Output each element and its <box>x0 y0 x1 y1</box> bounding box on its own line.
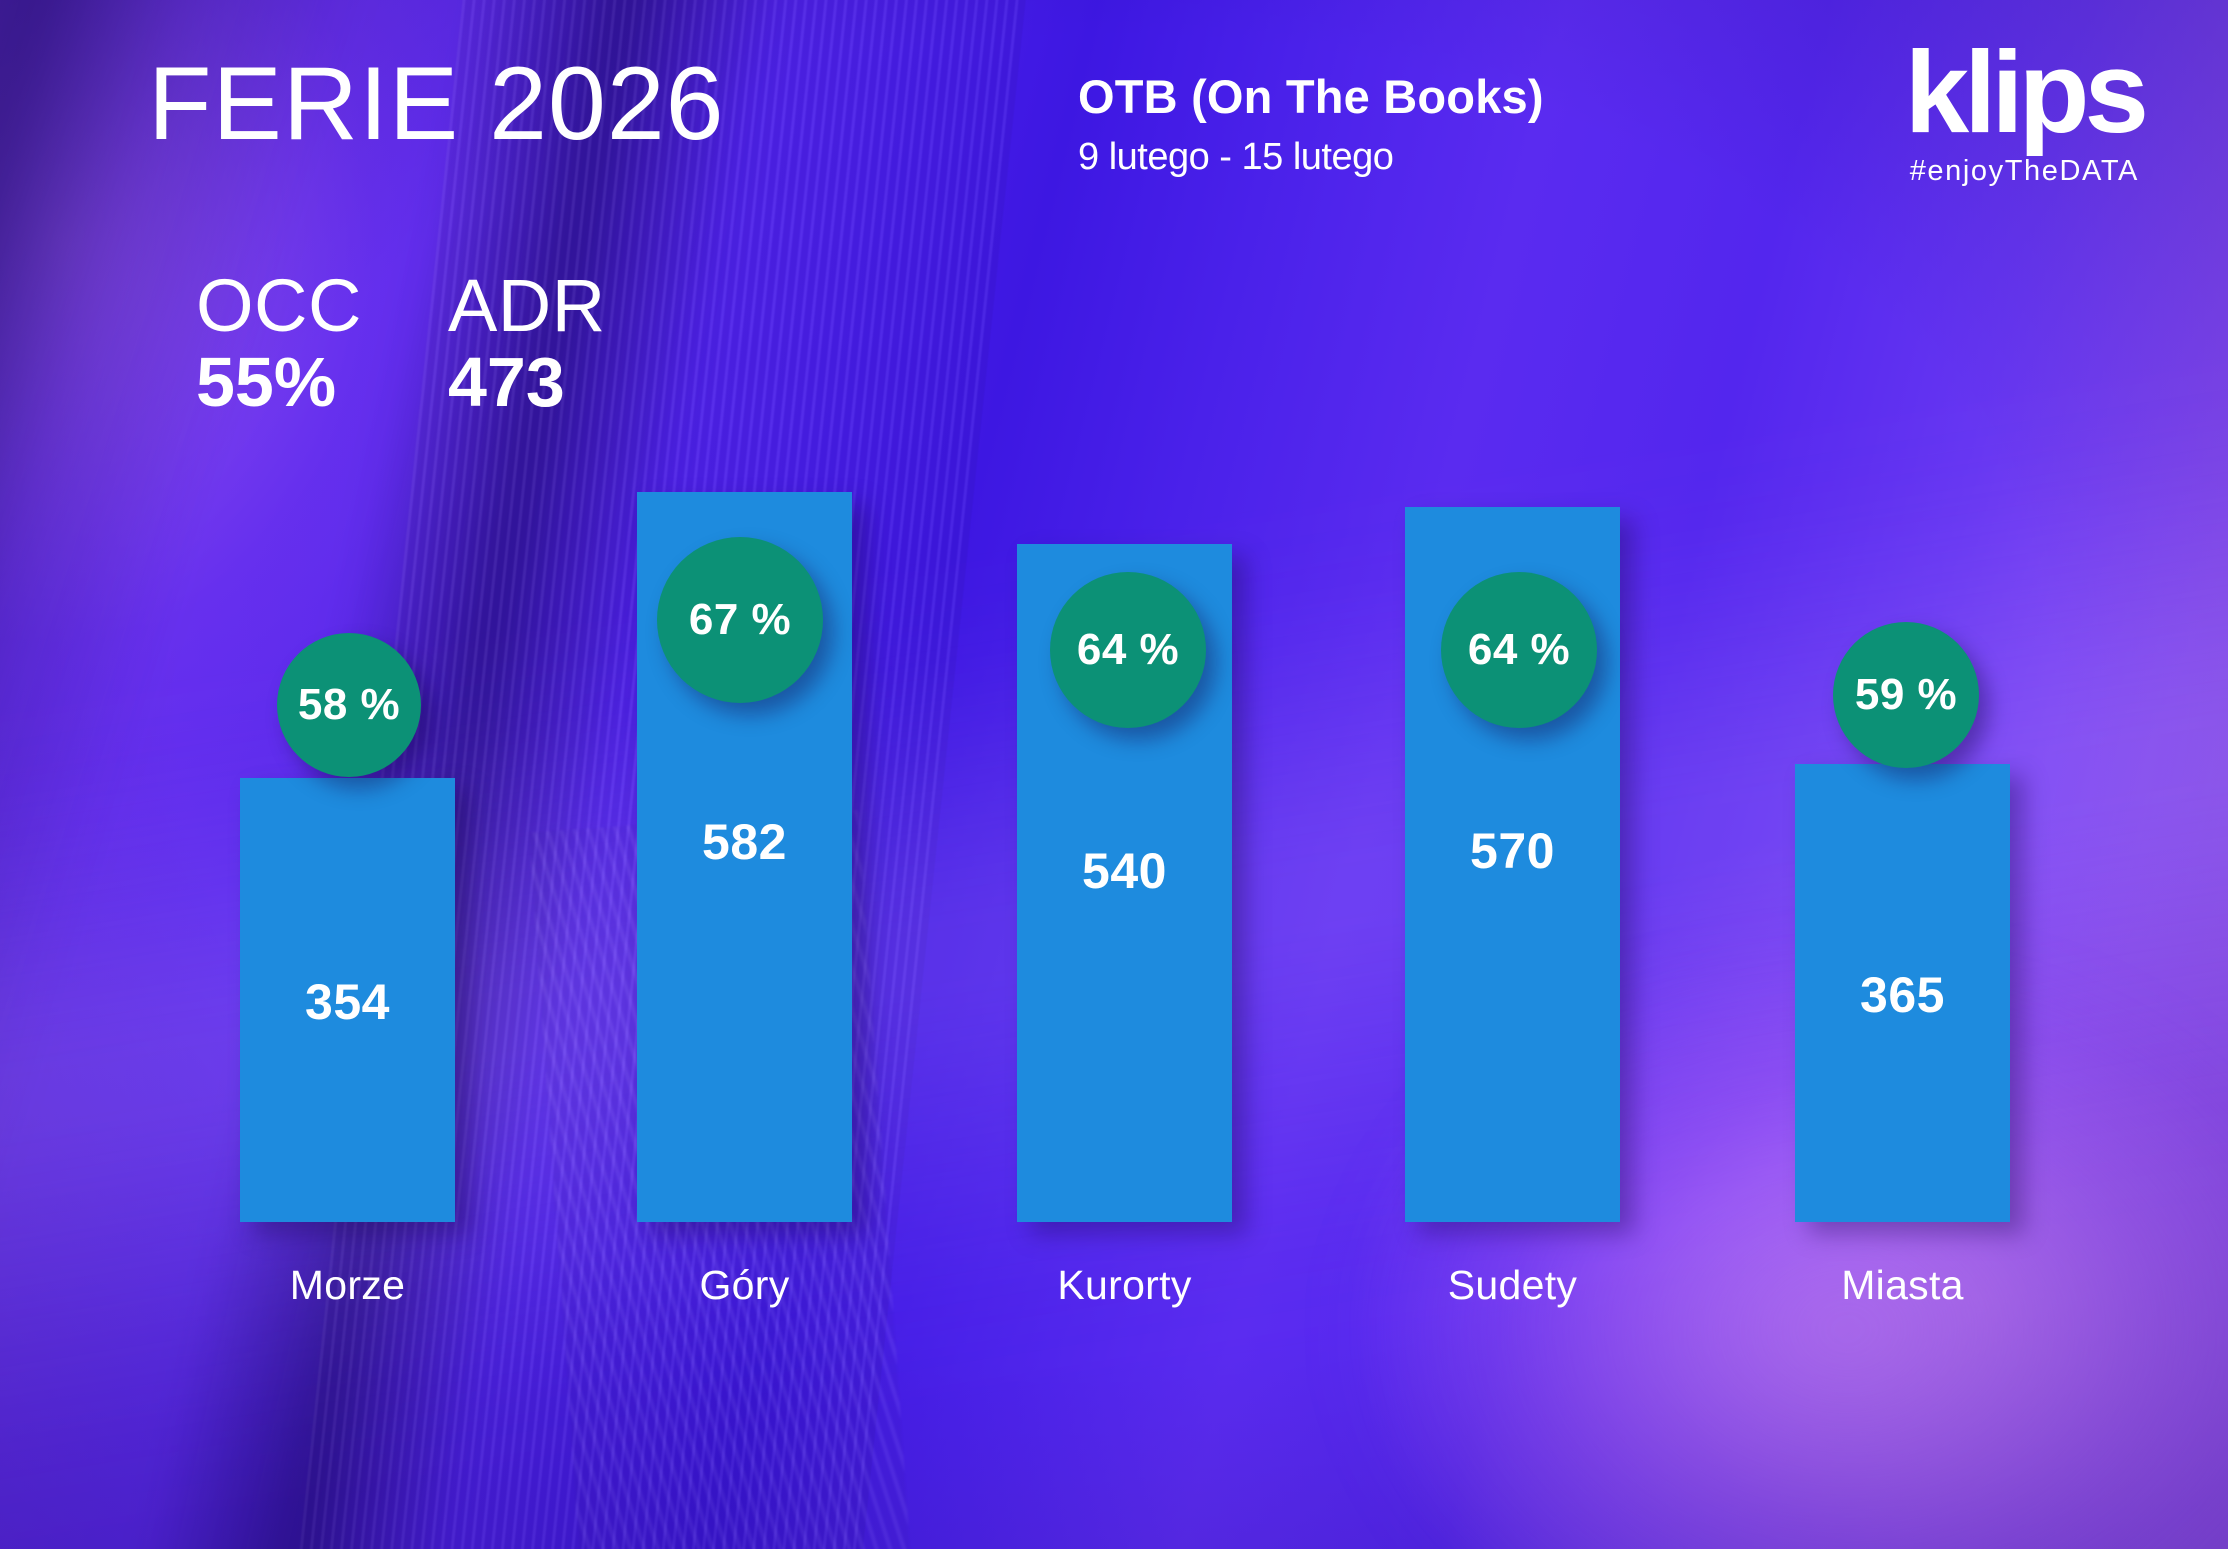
bar-value-miasta: 365 <box>1795 966 2010 1024</box>
occ-badge-label: 59 % <box>1855 670 1957 720</box>
bar-value-góry: 582 <box>637 813 852 871</box>
infographic-canvas: FERIE 2026 OCC 55% ADR 473 OTB (On The B… <box>0 0 2228 1549</box>
occ-badge-miasta[interactable]: 59 % <box>1833 622 1979 768</box>
bar-value-morze: 354 <box>240 973 455 1031</box>
occ-badge-kurorty[interactable]: 64 % <box>1050 572 1206 728</box>
bar-chart: 35458 %Morze58267 %Góry54064 %Kurorty570… <box>0 0 2228 1549</box>
category-label-góry: Góry <box>577 1262 912 1309</box>
category-label-sudety: Sudety <box>1345 1262 1680 1309</box>
occ-badge-góry[interactable]: 67 % <box>657 537 823 703</box>
category-label-morze: Morze <box>180 1262 515 1309</box>
occ-badge-label: 58 % <box>298 680 400 730</box>
bar-value-kurorty: 540 <box>1017 842 1232 900</box>
occ-badge-label: 64 % <box>1468 625 1570 675</box>
category-label-miasta: Miasta <box>1735 1262 2070 1309</box>
occ-badge-label: 67 % <box>689 595 791 645</box>
occ-badge-sudety[interactable]: 64 % <box>1441 572 1597 728</box>
category-label-kurorty: Kurorty <box>957 1262 1292 1309</box>
bar-value-sudety: 570 <box>1405 822 1620 880</box>
occ-badge-morze[interactable]: 58 % <box>277 633 421 777</box>
occ-badge-label: 64 % <box>1077 625 1179 675</box>
